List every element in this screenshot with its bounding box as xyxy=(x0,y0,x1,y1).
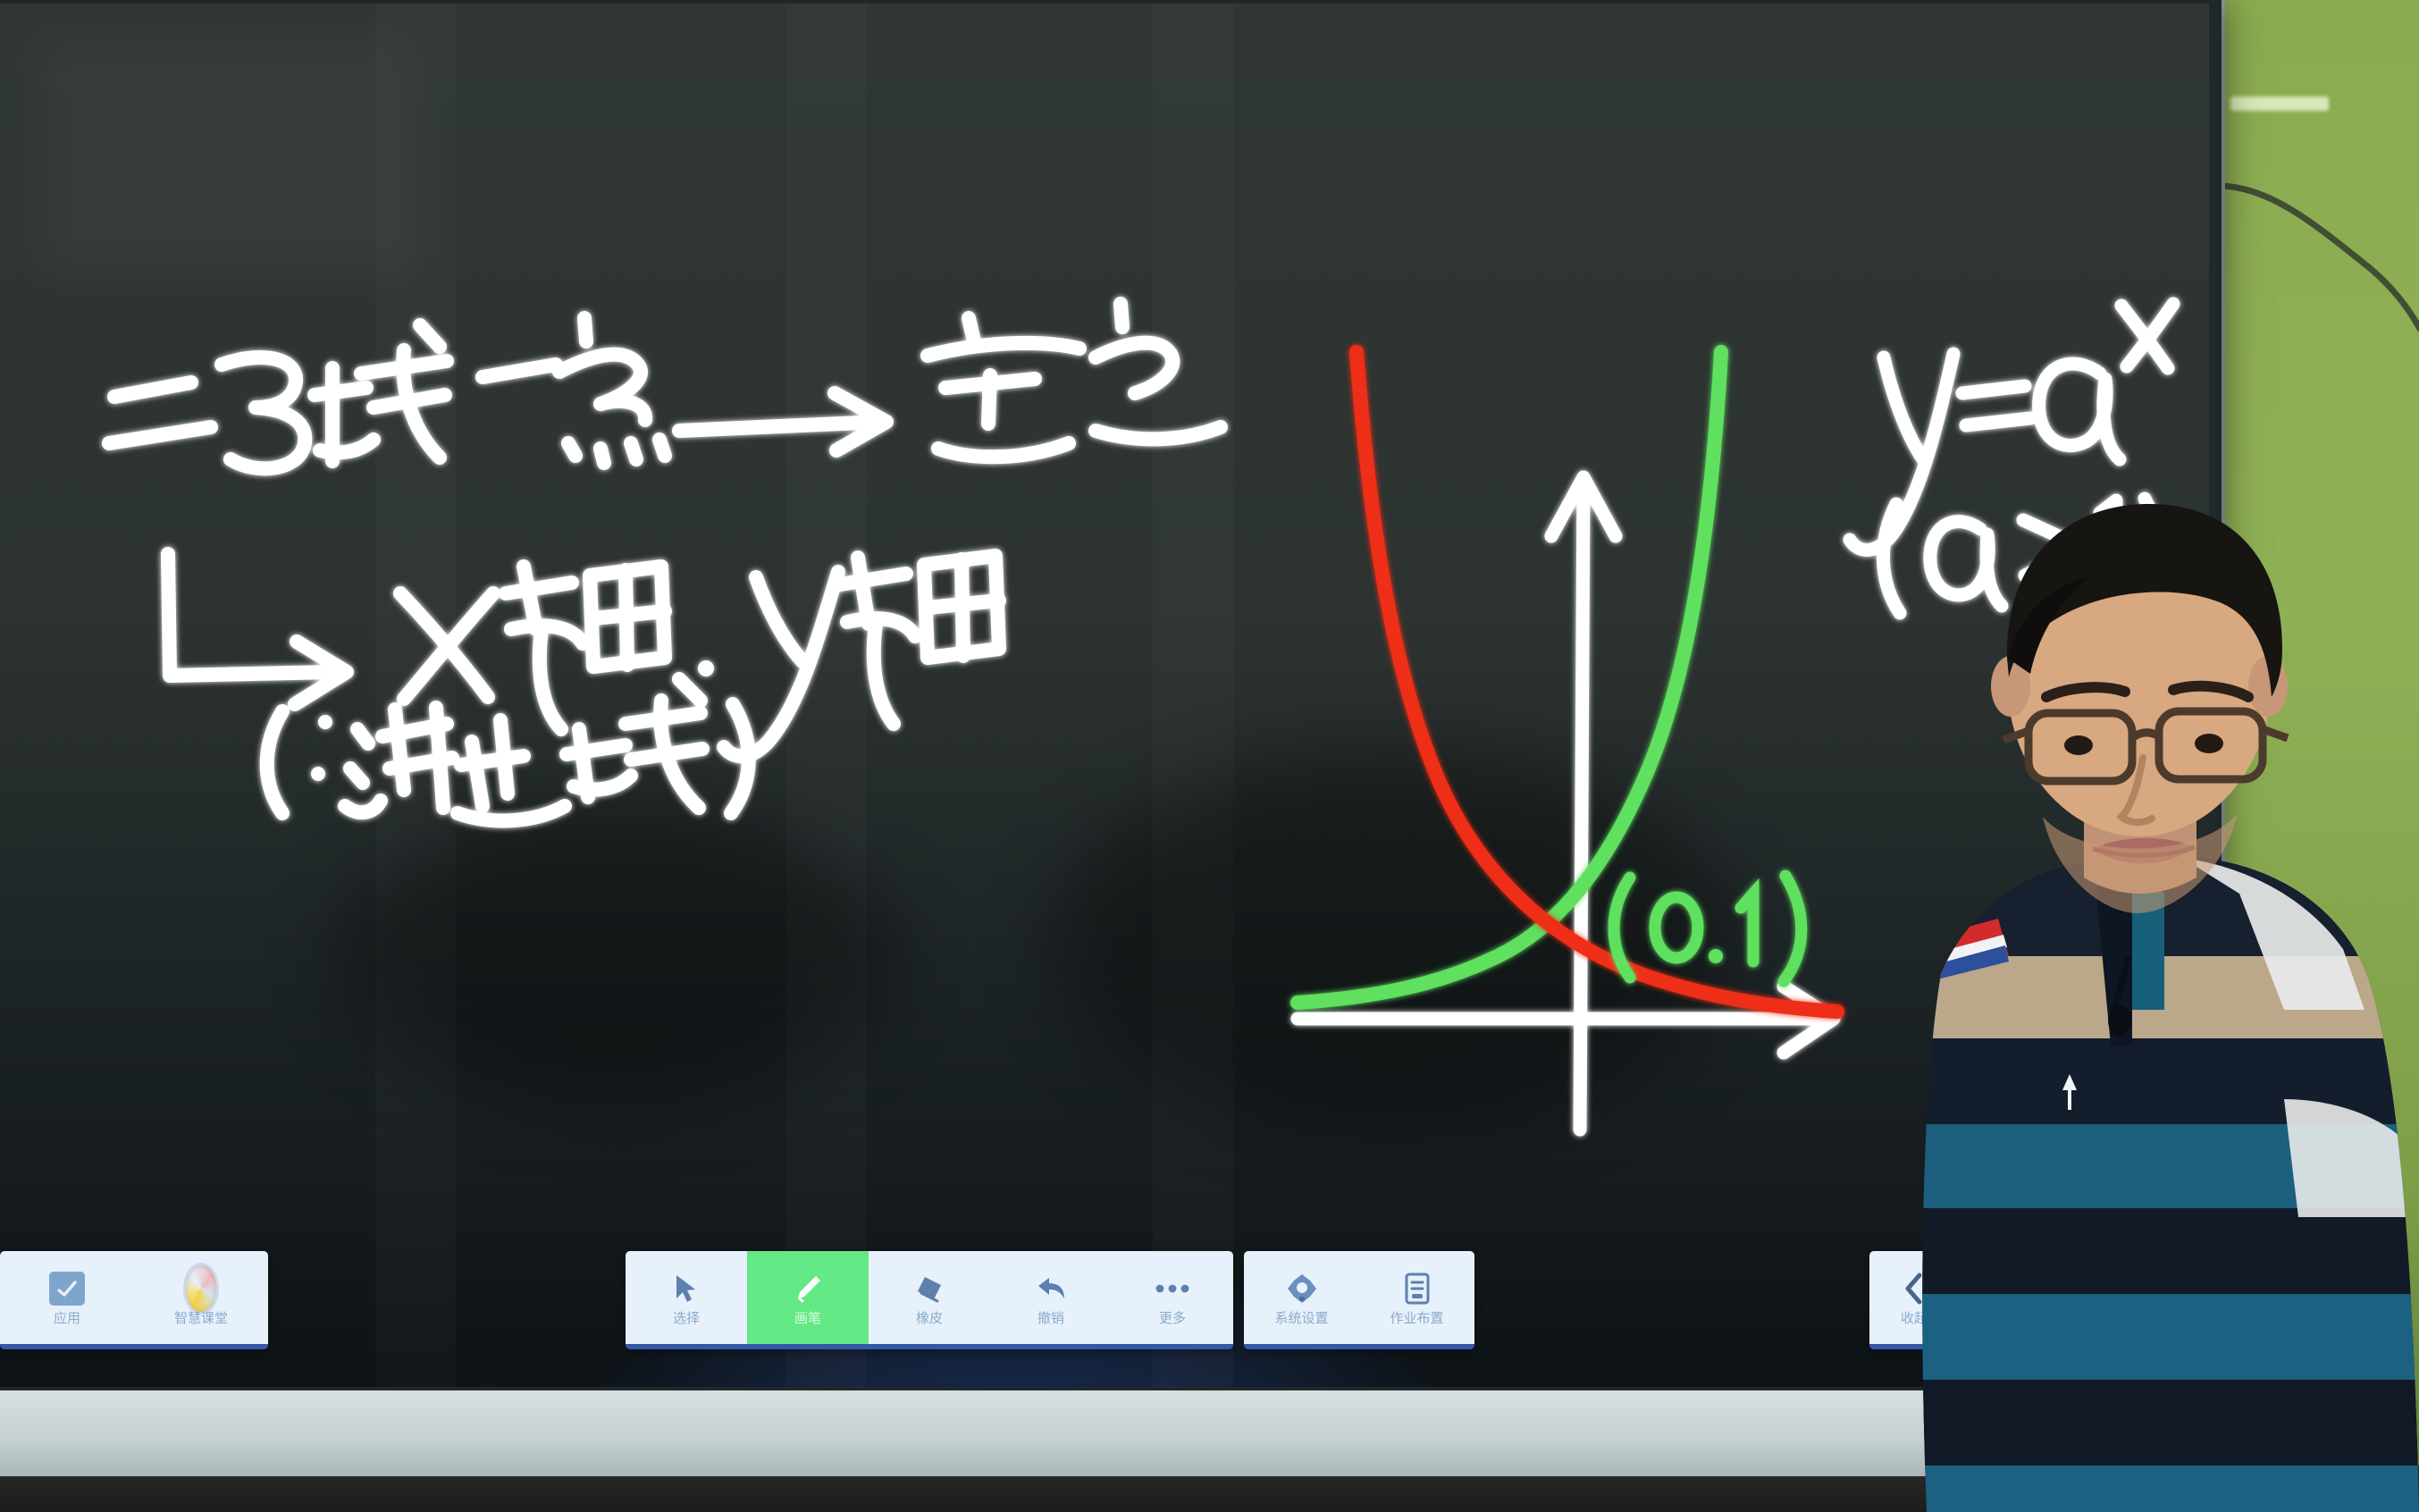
panel-shadow xyxy=(340,808,894,1103)
screenshot-root: 应用 智慧课堂 选择 xyxy=(0,0,2419,1512)
select-tool-label: 选择 xyxy=(673,1312,700,1325)
cursor-icon xyxy=(668,1271,704,1306)
toolbar-main-group[interactable]: 选择 画笔 xyxy=(626,1251,1233,1349)
page-label: 作业布置 xyxy=(1390,1312,1443,1325)
eraser-tool-label: 橡皮 xyxy=(916,1312,943,1325)
school-logo-button[interactable]: 智慧课堂 xyxy=(134,1251,268,1344)
eraser-icon xyxy=(911,1271,947,1306)
more-icon xyxy=(1155,1271,1190,1306)
panel-glare-stripe xyxy=(1153,4,1233,1387)
panel-shadow xyxy=(1054,754,1734,1130)
more-label: 更多 xyxy=(1159,1312,1186,1325)
app-launcher-label: 应用 xyxy=(54,1312,80,1325)
teacher-figure xyxy=(1864,474,2419,1512)
settings-label: 系统设置 xyxy=(1274,1312,1328,1325)
page-icon xyxy=(1399,1271,1435,1306)
gear-icon xyxy=(1284,1271,1320,1306)
app-launcher-button[interactable]: 应用 xyxy=(0,1251,134,1344)
app-icon xyxy=(49,1271,85,1306)
logo-icon xyxy=(183,1271,219,1306)
eraser-tool-button[interactable]: 橡皮 xyxy=(869,1251,990,1344)
wall-light-reflection xyxy=(2230,97,2329,111)
undo-icon xyxy=(1033,1271,1069,1306)
more-button[interactable]: 更多 xyxy=(1112,1251,1233,1344)
undo-label: 撤销 xyxy=(1037,1312,1064,1325)
wall-cable xyxy=(2218,175,2419,354)
toolbar-right-group[interactable]: 系统设置 作业布置 xyxy=(1244,1251,1474,1349)
select-tool-button[interactable]: 选择 xyxy=(626,1251,747,1344)
pen-icon xyxy=(790,1271,826,1306)
pen-tool-button[interactable]: 画笔 xyxy=(747,1251,869,1344)
page-button[interactable]: 作业布置 xyxy=(1359,1251,1474,1344)
toolbar-left-group[interactable]: 应用 智慧课堂 xyxy=(0,1251,268,1349)
pen-tool-label: 画笔 xyxy=(794,1312,821,1325)
school-logo-label: 智慧课堂 xyxy=(174,1312,228,1325)
settings-button[interactable]: 系统设置 xyxy=(1244,1251,1359,1344)
panel-glare-stripe xyxy=(786,4,867,1387)
undo-button[interactable]: 撤销 xyxy=(990,1251,1112,1344)
panel-glare xyxy=(36,39,411,272)
